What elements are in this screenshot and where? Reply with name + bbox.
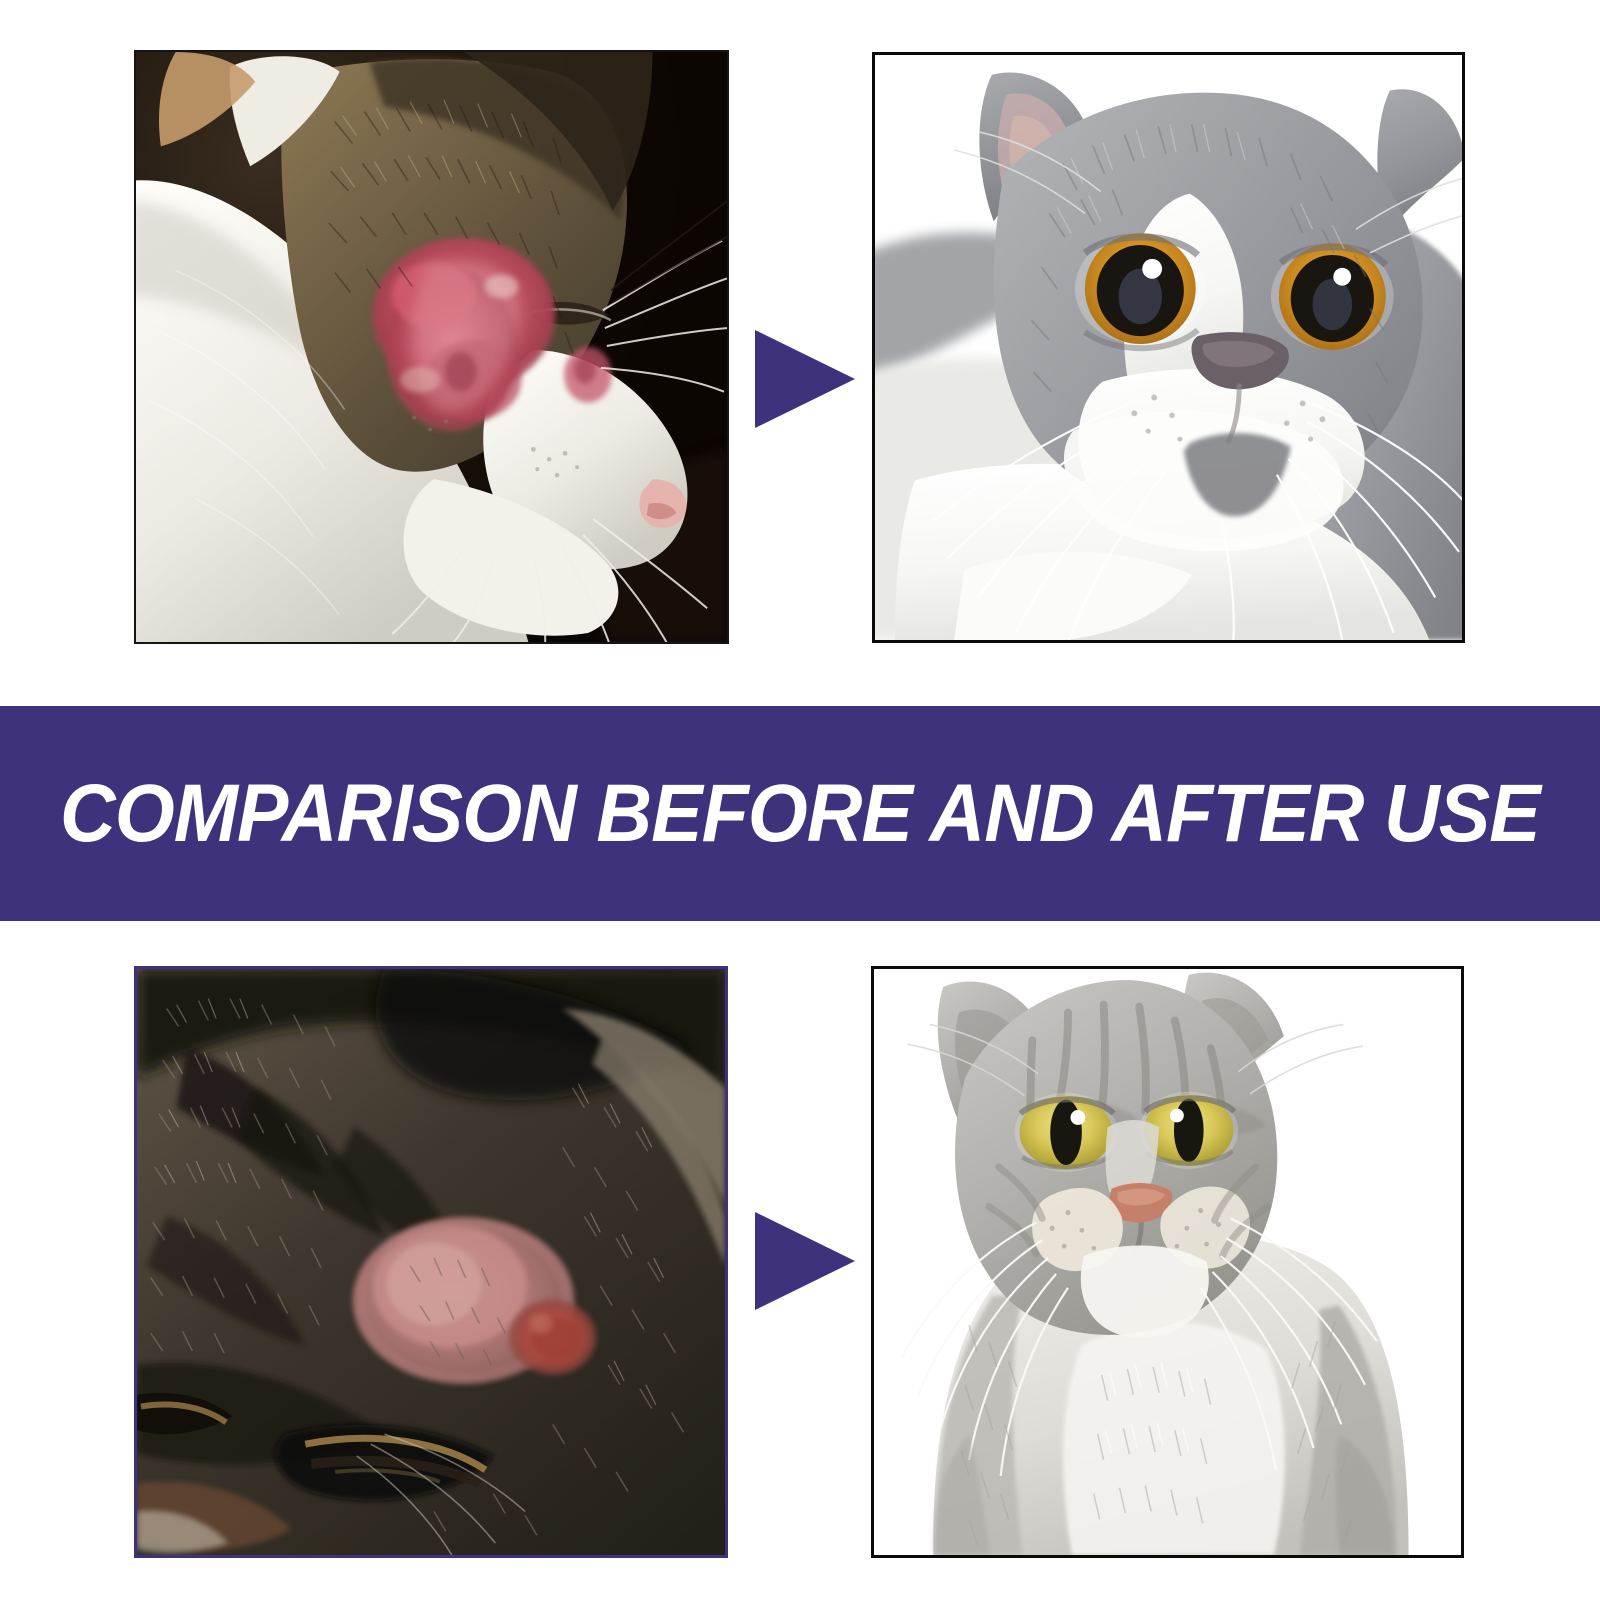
- after-cat-illustration-row-1: [875, 55, 1462, 640]
- arrow-row-1: [755, 330, 855, 428]
- before-cat-illustration-row-2: [137, 969, 725, 1555]
- after-photo-row-2: [871, 966, 1464, 1558]
- before-photo-row-1: [134, 50, 729, 644]
- banner-title: COMPARISON BEFORE AND AFTER USE: [60, 773, 1540, 855]
- arrow-row-2: [755, 1212, 855, 1310]
- after-photo-row-1: [872, 52, 1465, 643]
- after-cat-illustration-row-2: [874, 969, 1461, 1555]
- comparison-banner: COMPARISON BEFORE AND AFTER USE: [0, 706, 1600, 921]
- before-cat-illustration-row-1: [136, 52, 727, 642]
- before-photo-row-2: [134, 966, 728, 1558]
- comparison-poster: COMPARISON BEFORE AND AFTER USE: [0, 0, 1600, 1600]
